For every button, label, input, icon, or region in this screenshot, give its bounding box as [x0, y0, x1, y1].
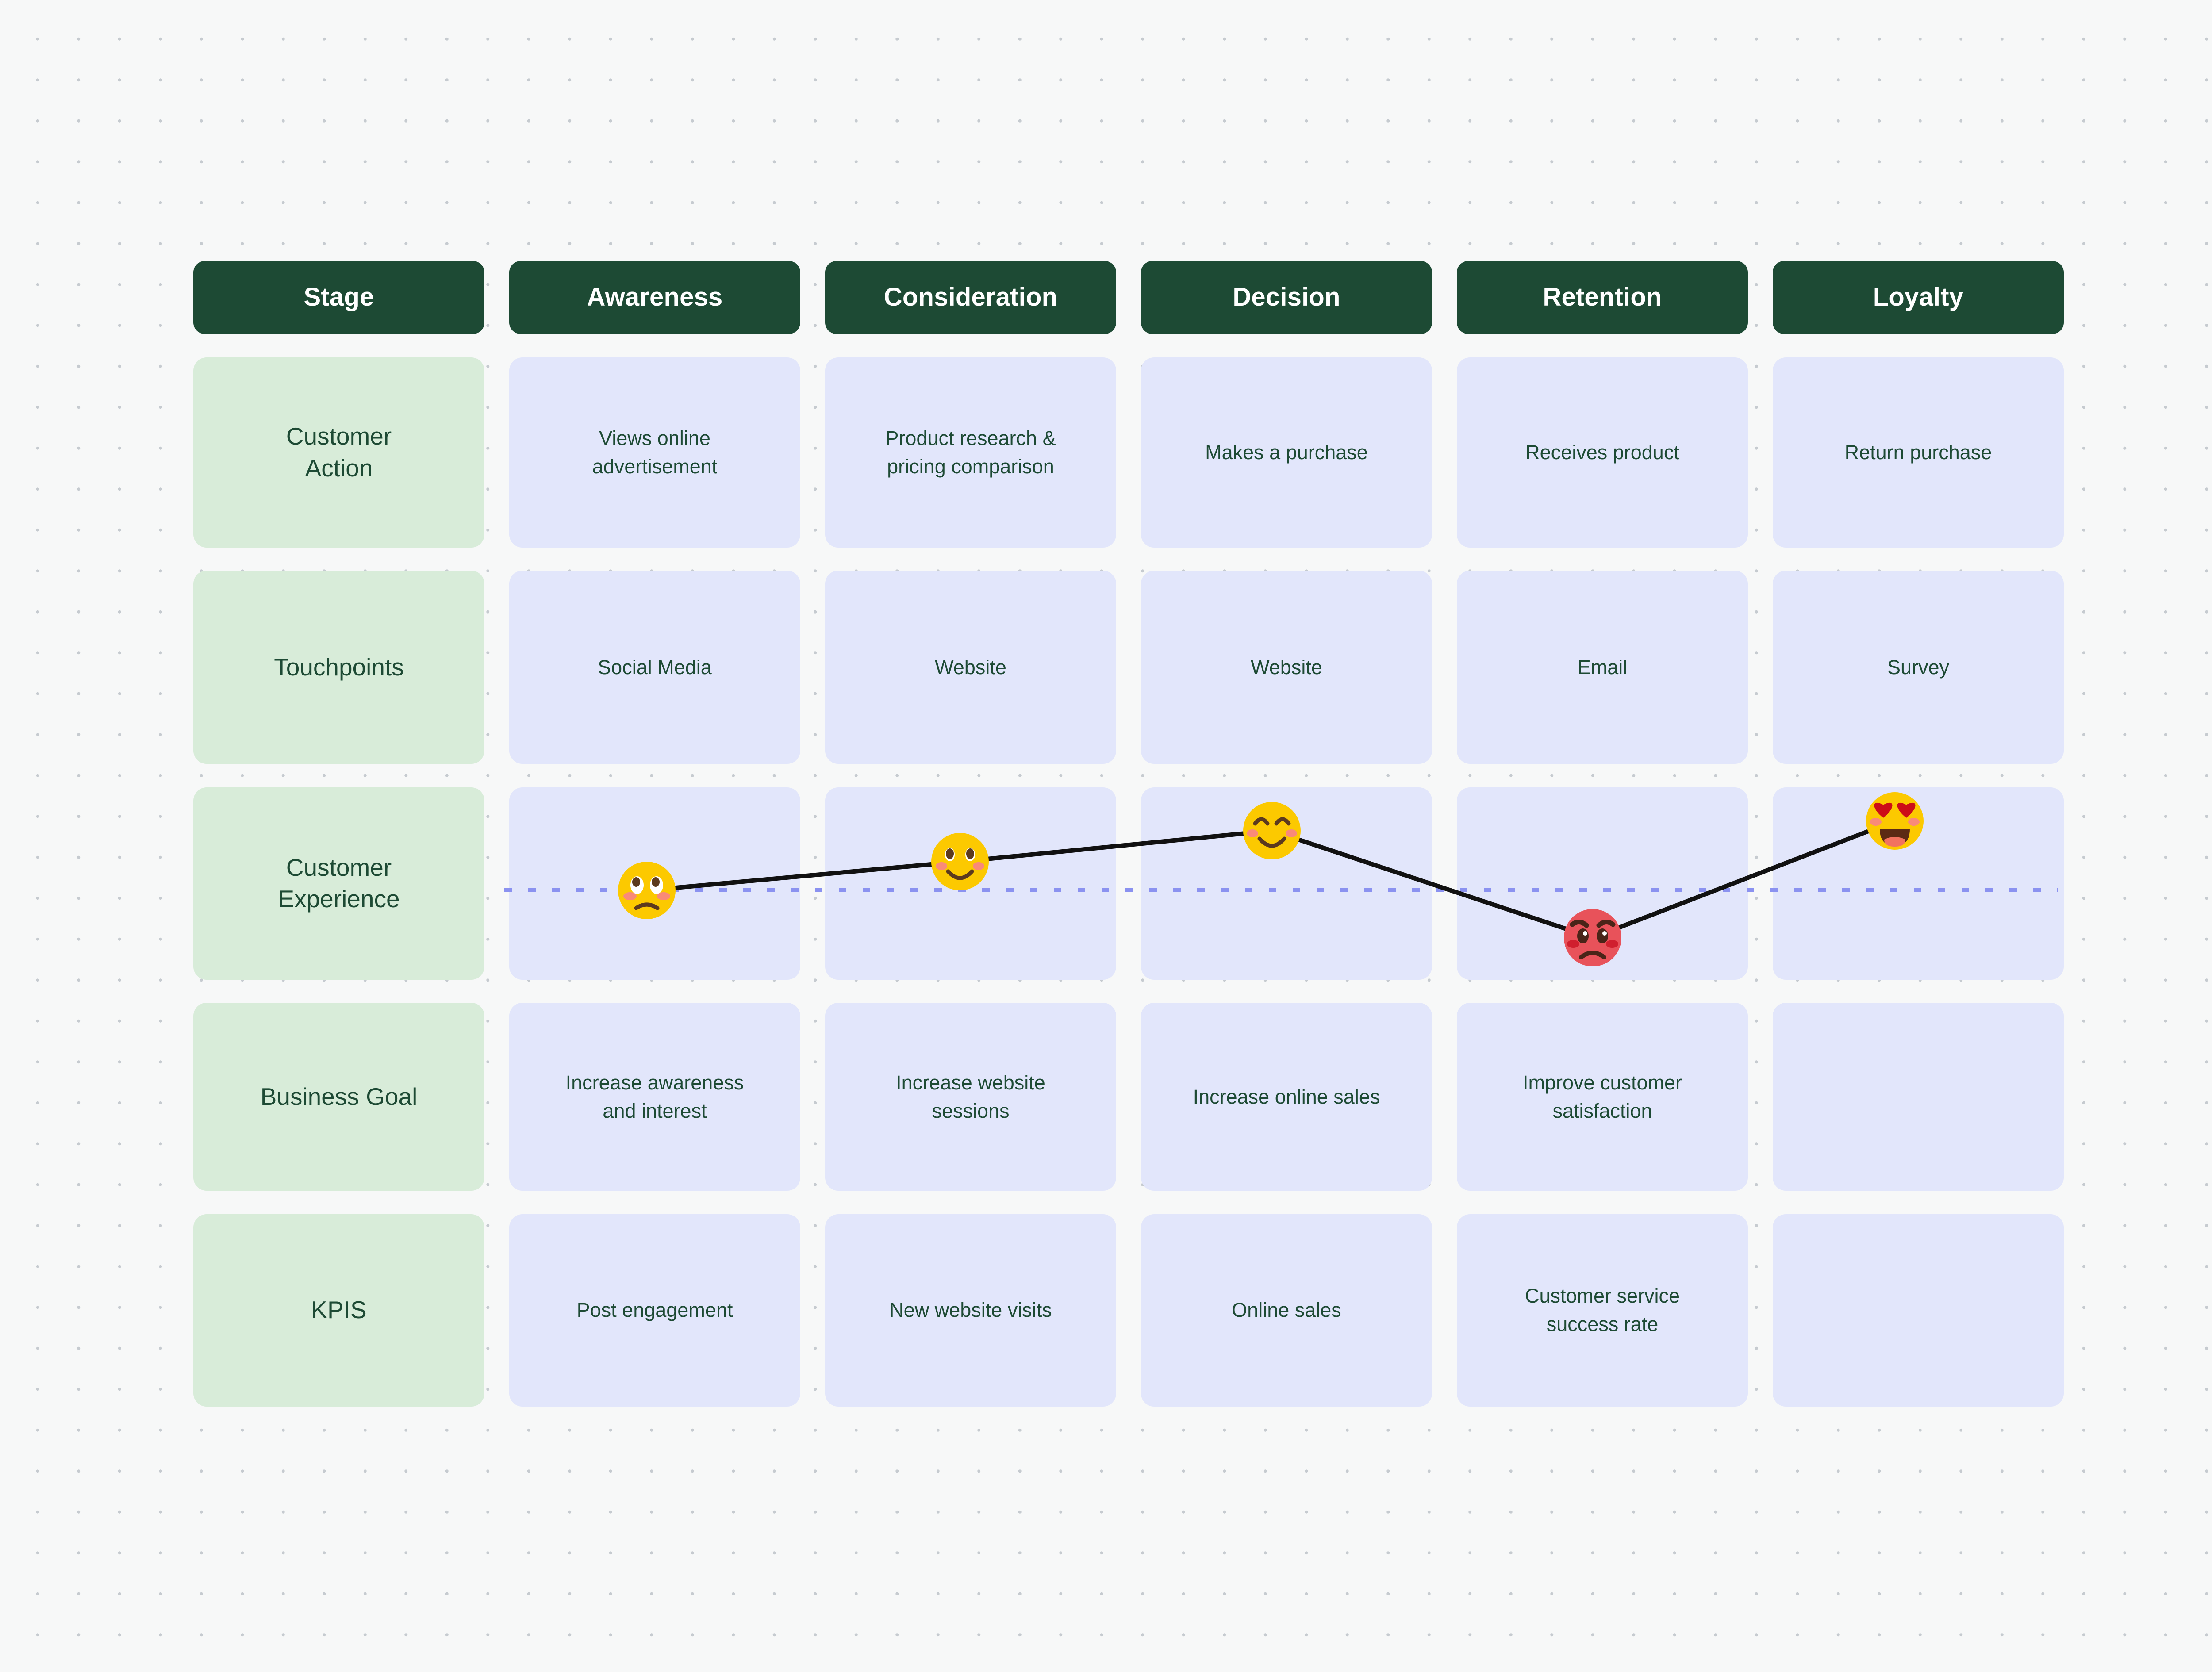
cell-touchpoints-consideration[interactable]: Website — [825, 571, 1116, 764]
cell-customer-experience-awareness[interactable] — [509, 787, 800, 980]
row-label-customer-experience[interactable]: Customer Experience — [193, 787, 484, 980]
cell-customer-action-consideration[interactable]: Product research & pricing comparison — [825, 357, 1116, 548]
cell-customer-experience-loyalty[interactable] — [1773, 787, 2064, 980]
cell-kpis-retention[interactable]: Customer service success rate — [1457, 1214, 1748, 1407]
cell-customer-action-decision[interactable]: Makes a purchase — [1141, 357, 1432, 548]
row-label-customer-action[interactable]: Customer Action — [193, 357, 484, 548]
cell-touchpoints-awareness[interactable]: Social Media — [509, 571, 800, 764]
header-cell-decision[interactable]: Decision — [1141, 261, 1432, 334]
journey-grid: Stage Awareness Consideration Decision R… — [193, 261, 2063, 1407]
cell-customer-action-awareness[interactable]: Views online advertisement — [509, 357, 800, 548]
cell-touchpoints-loyalty[interactable]: Survey — [1773, 571, 2064, 764]
header-cell-loyalty[interactable]: Loyalty — [1773, 261, 2064, 334]
row-label-touchpoints[interactable]: Touchpoints — [193, 571, 484, 764]
row-label-business-goal[interactable]: Business Goal — [193, 1003, 484, 1191]
cell-kpis-loyalty[interactable] — [1773, 1214, 2064, 1407]
cell-customer-action-loyalty[interactable]: Return purchase — [1773, 357, 2064, 548]
cell-customer-experience-decision[interactable] — [1141, 787, 1432, 980]
cell-kpis-consideration[interactable]: New website visits — [825, 1214, 1116, 1407]
header-cell-awareness[interactable]: Awareness — [509, 261, 800, 334]
cell-business-goal-decision[interactable]: Increase online sales — [1141, 1003, 1432, 1191]
cell-kpis-decision[interactable]: Online sales — [1141, 1214, 1432, 1407]
cell-touchpoints-decision[interactable]: Website — [1141, 571, 1432, 764]
cell-kpis-awareness[interactable]: Post engagement — [509, 1214, 800, 1407]
cell-touchpoints-retention[interactable]: Email — [1457, 571, 1748, 764]
row-label-kpis[interactable]: KPIS — [193, 1214, 484, 1407]
header-cell-consideration[interactable]: Consideration — [825, 261, 1116, 334]
cell-business-goal-loyalty[interactable] — [1773, 1003, 2064, 1191]
cell-business-goal-retention[interactable]: Improve customer satisfaction — [1457, 1003, 1748, 1191]
customer-journey-map: Stage Awareness Consideration Decision R… — [193, 261, 2063, 1409]
cell-business-goal-consideration[interactable]: Increase website sessions — [825, 1003, 1116, 1191]
cell-customer-action-retention[interactable]: Receives product — [1457, 357, 1748, 548]
header-cell-retention[interactable]: Retention — [1457, 261, 1748, 334]
cell-customer-experience-consideration[interactable] — [825, 787, 1116, 980]
cell-customer-experience-retention[interactable] — [1457, 787, 1748, 980]
cell-business-goal-awareness[interactable]: Increase awareness and interest — [509, 1003, 800, 1191]
header-cell-stage[interactable]: Stage — [193, 261, 484, 334]
